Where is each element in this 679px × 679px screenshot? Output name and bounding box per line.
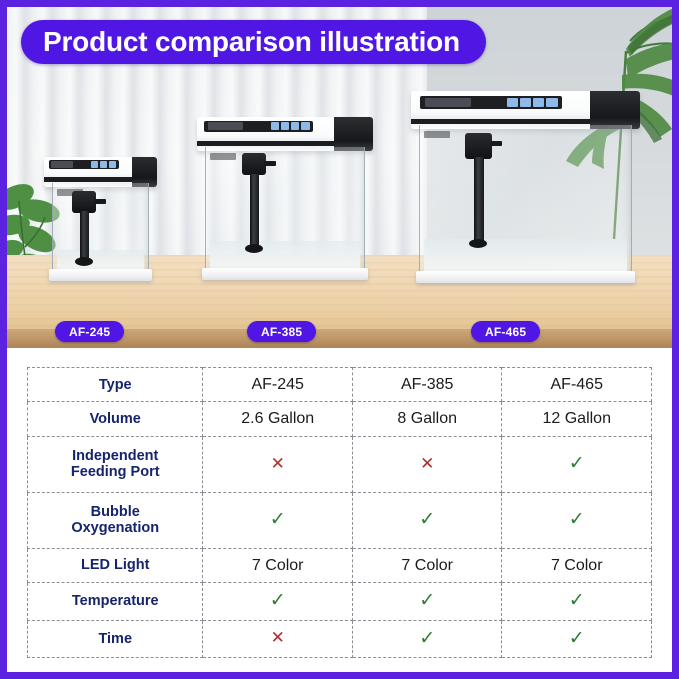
row-label-independent-feeding-port: Independent Feeding Port (28, 436, 203, 492)
row-label-volume: Volume (28, 402, 203, 436)
filter-tube (80, 211, 89, 259)
aquarium-large-lid (411, 91, 640, 129)
row-label-bubble-oxygenation: Bubble Oxygenation (28, 492, 203, 548)
row-label-line-1: Bubble (91, 504, 140, 520)
cell-volume-af-245: 2.6 Gallon (203, 402, 353, 436)
aquarium-large (419, 125, 632, 277)
aquarium-small-base (49, 269, 152, 281)
tank-floor (210, 241, 360, 269)
lid-buttons (271, 122, 310, 130)
row-label-time: Time (28, 620, 203, 657)
tank-floor (424, 239, 627, 272)
filter-pump-icon (242, 153, 266, 175)
lid-buttons (507, 98, 557, 107)
check-icon: ✓ (569, 453, 585, 474)
cell-type-af-465: AF-465 (502, 368, 652, 402)
check-icon: ✓ (270, 590, 286, 611)
aquarium-large-glass (419, 125, 632, 277)
check-icon: ✓ (569, 590, 585, 611)
check-icon: ✓ (569, 628, 585, 649)
cross-icon: ✕ (420, 454, 434, 473)
cell-bubble-af-385: ✓ (352, 492, 502, 548)
product-photo-scene: Product comparison illustration AF-245 A… (7, 7, 672, 348)
table-row: Time ✕ ✓ ✓ (28, 620, 652, 657)
filter-base-icon (245, 244, 263, 253)
cell-temperature-af-385: ✓ (352, 583, 502, 620)
filter-base-icon (75, 257, 93, 266)
table-row: Independent Feeding Port ✕ ✕ ✓ (28, 436, 652, 492)
cell-temperature-af-465: ✓ (502, 583, 652, 620)
aquarium-medium-lid (197, 117, 373, 151)
filter-tube (250, 174, 259, 246)
cell-feeding-af-465: ✓ (502, 436, 652, 492)
cell-type-af-245: AF-245 (203, 368, 353, 402)
cell-volume-af-385: 8 Gallon (352, 402, 502, 436)
filter-pump-icon (465, 133, 492, 159)
cell-led-af-465: 7 Color (502, 548, 652, 582)
cell-led-af-385: 7 Color (352, 548, 502, 582)
row-label-led-light: LED Light (28, 548, 203, 582)
lid-band (411, 119, 640, 124)
cell-time-af-465: ✓ (502, 620, 652, 657)
cell-led-af-245: 7 Color (203, 548, 353, 582)
cell-type-af-385: AF-385 (352, 368, 502, 402)
filter-tube (474, 157, 484, 242)
row-label-line-1: Independent (72, 448, 158, 464)
table-row: LED Light 7 Color 7 Color 7 Color (28, 548, 652, 582)
spec-table: Type AF-245 AF-385 AF-465 Volume 2.6 Gal… (27, 367, 652, 658)
check-icon: ✓ (419, 590, 435, 611)
tank-floor (57, 250, 144, 270)
table-row: Bubble Oxygenation ✓ ✓ ✓ (28, 492, 652, 548)
model-badge-af-385: AF-385 (247, 321, 316, 342)
aquarium-small-glass (52, 183, 149, 275)
cross-icon: ✕ (271, 454, 285, 473)
lid-band (44, 177, 157, 182)
cross-icon: ✕ (271, 628, 285, 647)
aquarium-small (52, 183, 149, 275)
brand-logo (210, 153, 236, 160)
check-icon: ✓ (419, 509, 435, 530)
model-badge-af-465: AF-465 (471, 321, 540, 342)
cell-volume-af-465: 12 Gallon (502, 402, 652, 436)
aquarium-large-base (416, 271, 635, 283)
aquarium-medium-glass (205, 147, 365, 274)
cell-feeding-af-385: ✕ (352, 436, 502, 492)
brand-logo (424, 131, 450, 138)
lid-display-icon (425, 98, 471, 107)
table-row: Volume 2.6 Gallon 8 Gallon 12 Gallon (28, 402, 652, 436)
table-row: Type AF-245 AF-385 AF-465 (28, 368, 652, 402)
row-label-line-2: Feeding Port (71, 464, 160, 480)
check-icon: ✓ (569, 509, 585, 530)
spec-table-container: Type AF-245 AF-385 AF-465 Volume 2.6 Gal… (7, 348, 672, 672)
filter-base-icon (469, 239, 487, 248)
check-icon: ✓ (419, 628, 435, 649)
row-label-line-2: Oxygenation (71, 520, 159, 536)
product-comparison-page: Product comparison illustration AF-245 A… (0, 0, 679, 679)
aquarium-medium-base (202, 268, 368, 280)
row-label-temperature: Temperature (28, 583, 203, 620)
table-row: Temperature ✓ ✓ ✓ (28, 583, 652, 620)
row-label-type: Type (28, 368, 203, 402)
banner-title: Product comparison illustration (21, 20, 486, 64)
cell-time-af-245: ✕ (203, 620, 353, 657)
cell-feeding-af-245: ✕ (203, 436, 353, 492)
cell-bubble-af-465: ✓ (502, 492, 652, 548)
aquarium-medium (205, 147, 365, 274)
cell-temperature-af-245: ✓ (203, 583, 353, 620)
model-badge-af-245: AF-245 (55, 321, 124, 342)
check-icon: ✓ (270, 509, 286, 530)
filter-pump-icon (72, 191, 96, 213)
lid-display-icon (51, 161, 74, 168)
cell-bubble-af-245: ✓ (203, 492, 353, 548)
cell-time-af-385: ✓ (352, 620, 502, 657)
lid-band (197, 141, 373, 146)
lid-display-icon (208, 122, 243, 130)
lid-buttons (91, 161, 116, 168)
